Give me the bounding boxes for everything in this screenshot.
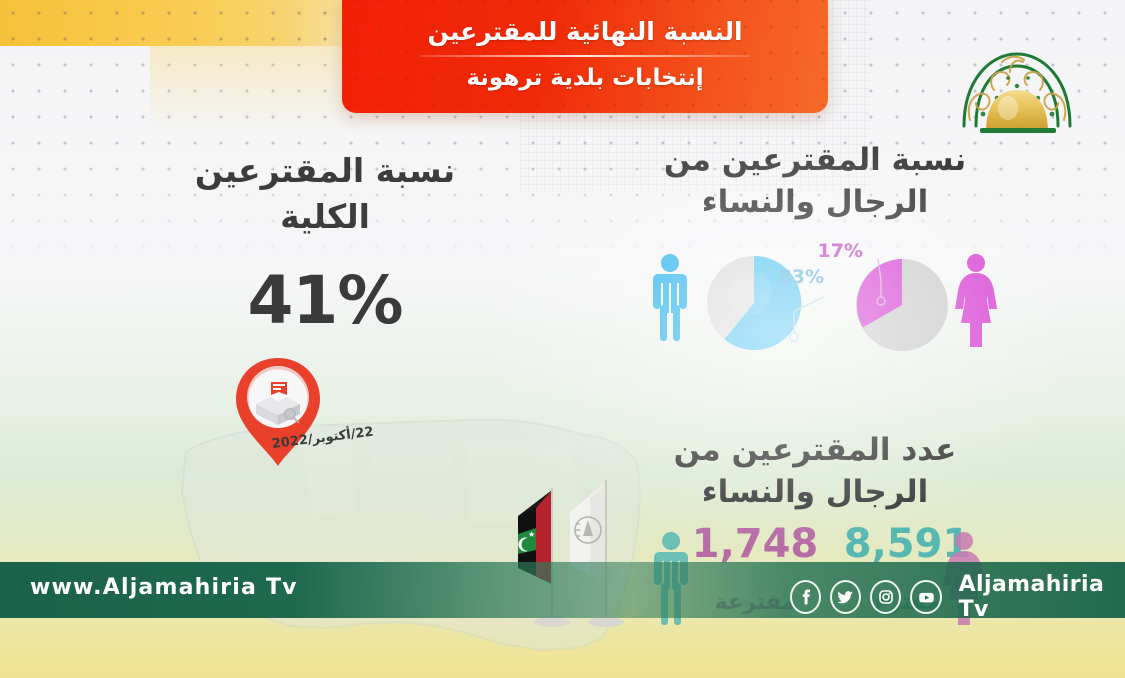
header-title-line2: إنتخابات بلدية ترهونة [466,65,703,91]
gold-band-dots [0,0,352,46]
overall-turnout-title: نسبة المقترعين الكلية [150,148,500,239]
header-divider [420,55,750,57]
gender-counts-title: عدد المقترعين من الرجال والنساء [640,430,990,514]
footer-social-group: Aljamahiria Tv [790,572,1125,622]
gender-share-charts: 83% 17% [648,243,1008,358]
infographic-canvas: النسبة النهائية للمقترعين إنتخابات بلدية… [0,0,1125,678]
facebook-icon[interactable] [790,580,821,614]
female-pictogram-icon [955,254,997,347]
female-count-value: 1,748 [680,524,830,564]
overall-turnout-value: 41% [150,262,500,339]
footer-website-url[interactable]: www.Aljamahiria Tv [30,575,298,600]
gender-share-title: نسبة المقترعين من الرجال والنساء [640,140,990,224]
male-share-label: 83% [779,266,824,288]
gold-top-band [0,0,352,46]
instagram-icon[interactable] [870,580,901,614]
footer-brand-name: Aljamahiria Tv [959,572,1125,622]
libya-electoral-emblem-icon [950,28,1085,133]
twitter-icon[interactable] [830,580,861,614]
male-pictogram-icon [653,254,687,341]
ballot-box-pin-icon [228,352,328,470]
youtube-icon[interactable] [910,580,941,614]
header-banner: النسبة النهائية للمقترعين إنتخابات بلدية… [342,0,828,113]
female-share-label: 17% [818,243,863,262]
header-title-line1: النسبة النهائية للمقترعين [427,17,742,46]
